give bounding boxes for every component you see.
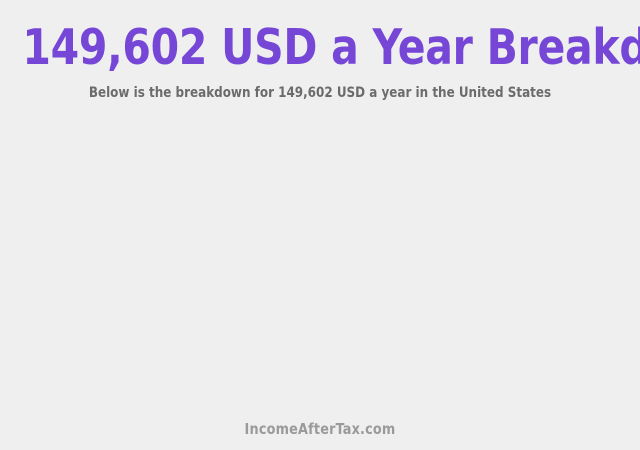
site-credit: IncomeAfterTax.com <box>16 420 624 438</box>
breakdown-content-area <box>0 112 640 412</box>
page-footer: IncomeAfterTax.com <box>0 420 640 438</box>
page-title: 149,602 USD a Year Breakdown <box>22 22 617 74</box>
income-breakdown-page: 149,602 USD a Year Breakdown Below is th… <box>0 0 640 450</box>
page-subtitle: Below is the breakdown for 149,602 USD a… <box>16 85 624 102</box>
